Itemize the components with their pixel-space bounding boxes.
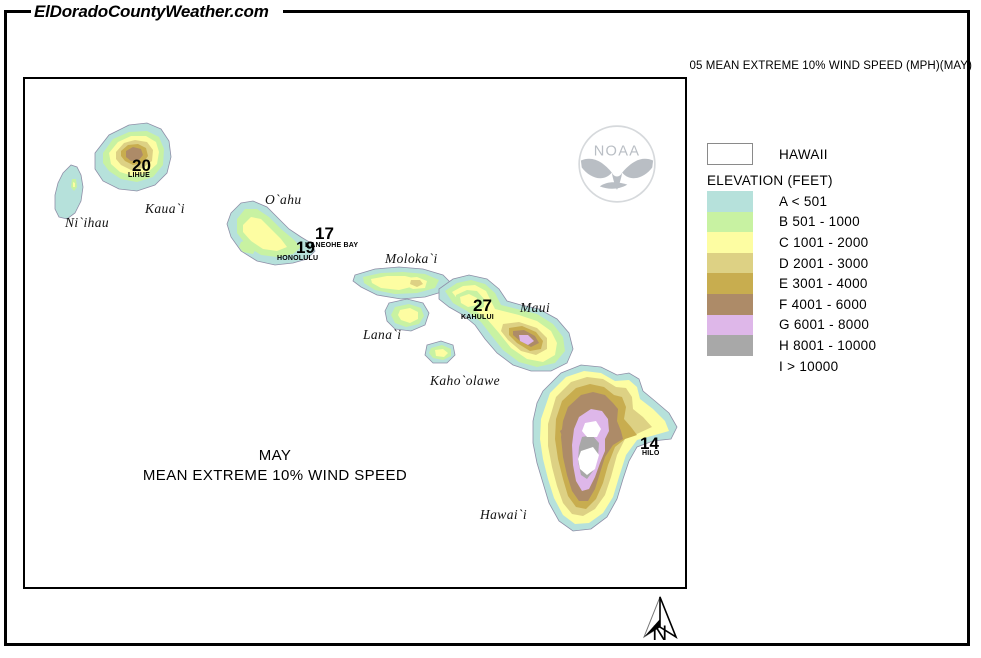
legend-label-h: H 8001 - 10000	[779, 338, 876, 353]
island-molokai	[353, 267, 451, 299]
legend-row: C 1001 - 2000	[707, 232, 937, 253]
legend-swatch-i	[707, 356, 753, 377]
legend-swatch-e	[707, 273, 753, 294]
legend-row: B 501 - 1000	[707, 212, 937, 233]
island-label-oahu: O`ahu	[265, 192, 302, 208]
legend-swatch-b	[707, 212, 753, 233]
noaa-logo-text: NOAA	[594, 143, 641, 159]
island-label-niihau: Ni`ihau	[65, 215, 109, 231]
legend-row: D 2001 - 3000	[707, 253, 937, 274]
legend-title-elevation: ELEVATION (FEET)	[707, 173, 937, 188]
legend-swatch-g	[707, 315, 753, 336]
map-legend: HAWAII ELEVATION (FEET) A < 501 B 501 - …	[707, 141, 937, 376]
legend-swatch-a	[707, 191, 753, 212]
map-caption: MAY MEAN EXTREME 10% WIND SPEED	[65, 447, 485, 484]
legend-swatch-h	[707, 335, 753, 356]
legend-swatch-c	[707, 232, 753, 253]
station-value-kahului: 27	[473, 296, 492, 316]
legend-swatch-hawaii	[707, 143, 753, 165]
legend-row: E 3001 - 4000	[707, 273, 937, 294]
legend-row: G 6001 - 8000	[707, 315, 937, 336]
map-caption-month: MAY	[65, 447, 485, 464]
legend-label-b: B 501 - 1000	[779, 214, 860, 229]
legend-label-f: F 4001 - 6000	[779, 297, 867, 312]
station-name-hilo: HILO	[642, 450, 660, 457]
sheet-title: 05 MEAN EXTREME 10% WIND SPEED (MPH)(MAY…	[690, 60, 972, 72]
legend-swatch-d	[707, 253, 753, 274]
station-name-honolulu: HONOLULU	[277, 255, 318, 262]
island-kahoolawe	[425, 341, 455, 363]
legend-swatch-f	[707, 294, 753, 315]
island-maui	[439, 275, 573, 371]
legend-label-a: A < 501	[779, 194, 827, 209]
map-caption-variable: MEAN EXTREME 10% WIND SPEED	[65, 467, 485, 484]
legend-row-hawaii: HAWAII	[707, 141, 937, 167]
station-value-kaneohe-bay: 17	[315, 224, 334, 244]
map-panel: .ocean-line{stroke:#8f8fa8;stroke-width:…	[23, 77, 687, 589]
island-label-kahoolawe: Kaho`olawe	[430, 373, 500, 389]
noaa-logo-icon: NOAA	[574, 121, 660, 207]
legend-row: A < 501	[707, 191, 937, 212]
island-label-maui: Maui	[520, 300, 550, 316]
legend-label-g: G 6001 - 8000	[779, 317, 869, 332]
island-label-hawaii: Hawai`i	[480, 507, 527, 523]
station-name-lihue: LIHUE	[128, 172, 150, 179]
island-niihau	[55, 165, 83, 219]
legend-label-d: D 2001 - 3000	[779, 256, 868, 271]
legend-label-c: C 1001 - 2000	[779, 235, 868, 250]
legend-row: F 4001 - 6000	[707, 294, 937, 315]
legend-label-e: E 3001 - 4000	[779, 276, 868, 291]
island-label-molokai: Moloka`i	[385, 251, 438, 267]
island-label-lanai: Lana`i	[363, 327, 401, 343]
site-title: ElDoradoCountyWeather.com	[34, 0, 269, 24]
legend-label-i: I > 10000	[779, 359, 838, 374]
station-name-kahului: KAHULUI	[461, 314, 494, 321]
legend-label-hawaii: HAWAII	[779, 147, 828, 162]
north-arrow-label: N	[637, 622, 683, 646]
island-label-kauai: Kaua`i	[145, 201, 185, 217]
legend-elevation-rows: A < 501 B 501 - 1000 C 1001 - 2000 D 200…	[707, 191, 937, 376]
legend-row: I > 10000	[707, 356, 937, 377]
legend-row: H 8001 - 10000	[707, 335, 937, 356]
